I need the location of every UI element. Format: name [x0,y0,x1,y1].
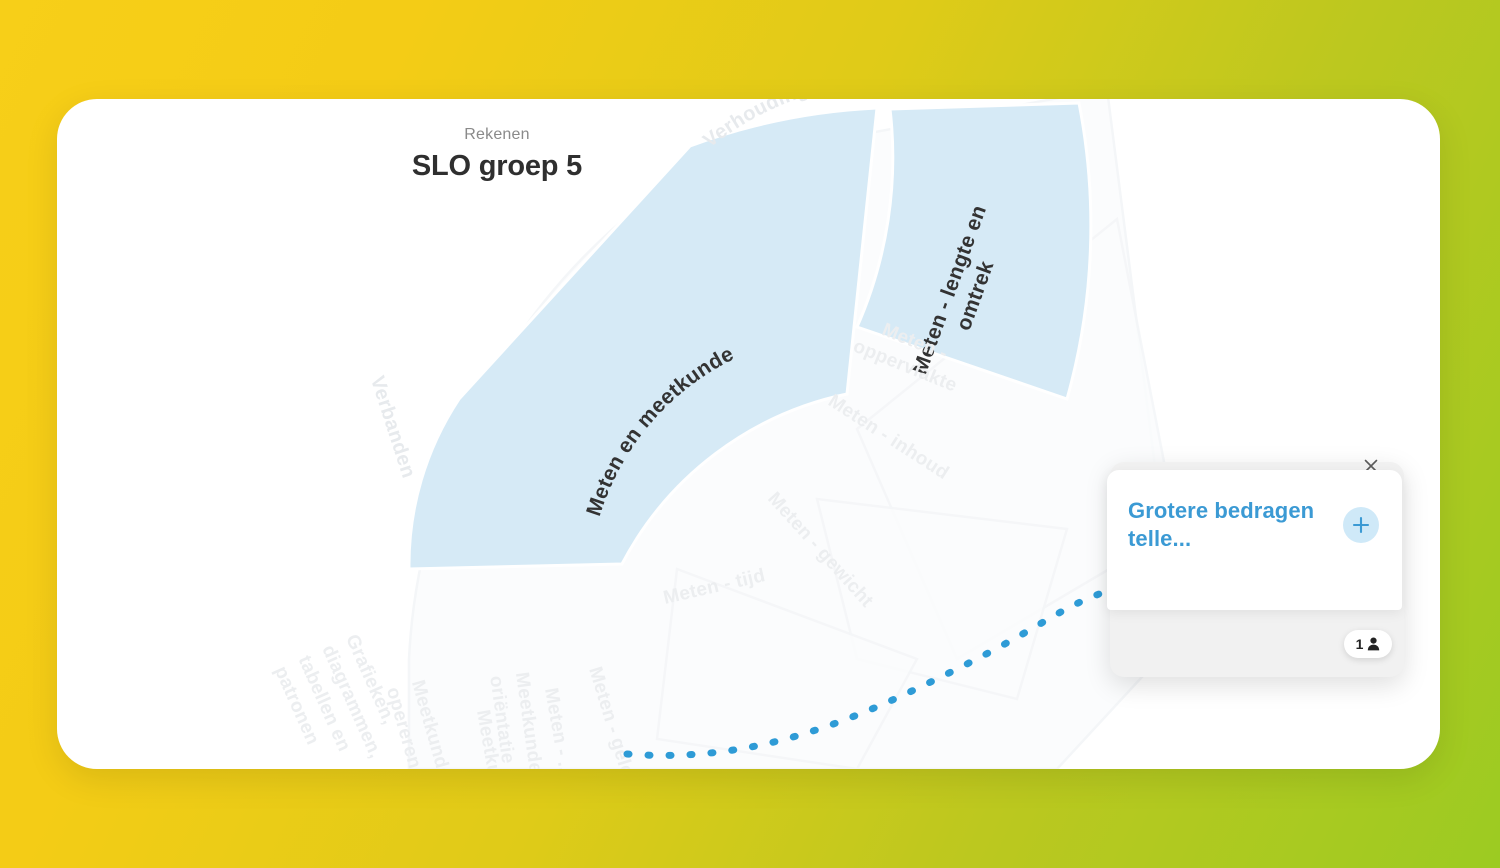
popup-title: Grotere bedragen telle... [1128,497,1318,553]
popup-card: Grotere bedragen telle... [1107,470,1402,610]
badge-count: 1 [1356,637,1364,651]
skill-popup[interactable]: Grotere bedragen telle... 1 [1107,457,1404,677]
status-badge[interactable]: 1 [1344,630,1392,658]
plus-icon [1352,516,1370,534]
screen-root: Rekenen SLO groep 5 [0,0,1500,868]
add-button[interactable] [1343,507,1379,543]
person-icon [1367,637,1380,651]
sunburst-label-ghost-rekenen: Rek... [910,99,965,104]
sunburst-label-verbanden: Verbanden [366,373,420,480]
